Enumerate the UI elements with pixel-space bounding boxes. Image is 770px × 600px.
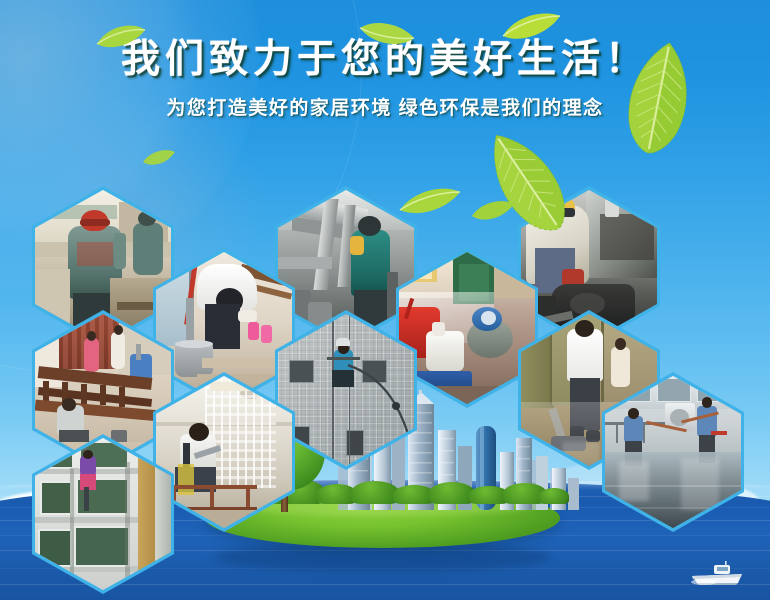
banner-stage: 我们致力于您的美好生活！ 为您打造美好的家居环境 绿色环保是我们的理念 bbox=[0, 0, 770, 600]
page-title: 我们致力于您的美好生活！ bbox=[0, 0, 770, 79]
hex-photo-rooftop-water-push[interactable] bbox=[602, 372, 744, 532]
hex-photo-ceiling-crystal-light[interactable] bbox=[153, 372, 295, 532]
hex-photo-carpet-shampooing[interactable] bbox=[396, 248, 538, 408]
page-subtitle: 为您打造美好的家居环境 绿色环保是我们的理念 bbox=[0, 79, 770, 120]
banner-headings: 我们致力于您的美好生活！ 为您打造美好的家居环境 绿色环保是我们的理念 bbox=[0, 0, 770, 120]
hex-photo-building-wall-wash[interactable] bbox=[32, 434, 174, 594]
hex-photo-facade-rope-access[interactable] bbox=[275, 310, 417, 470]
